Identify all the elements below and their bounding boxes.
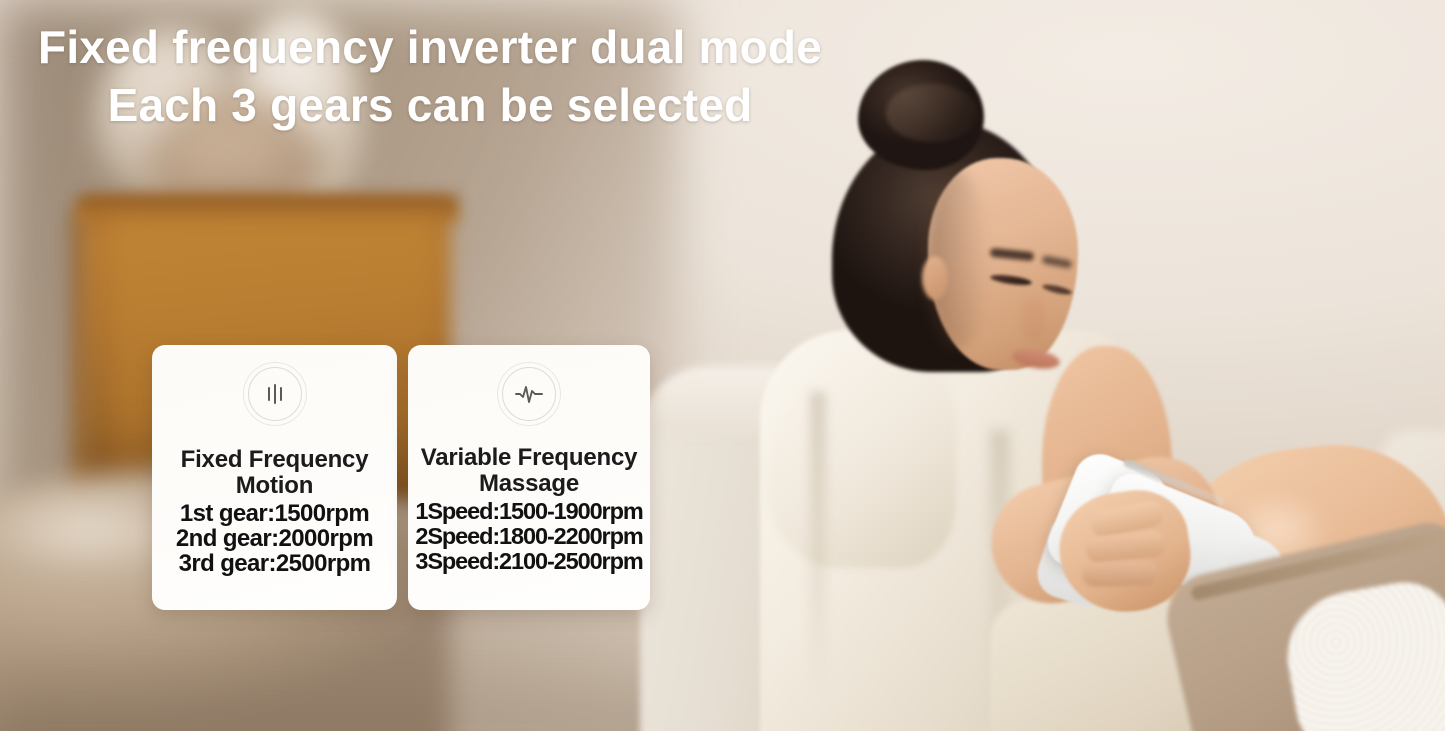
card-title-line-2: Motion (236, 472, 313, 499)
hair-bun-wrap (886, 84, 978, 142)
pulse-waveform-icon (502, 367, 556, 421)
card-title-line-2: Massage (479, 470, 579, 497)
nose (1020, 296, 1046, 340)
spec-line: 2Speed:1800-2200rpm (415, 524, 642, 549)
feature-card-group: Fixed Frequency Motion 1st gear:1500rpm … (152, 345, 650, 610)
finger-ring (1082, 561, 1159, 588)
card-title: Fixed Frequency Motion (181, 447, 369, 499)
headline-line-1: Fixed frequency inverter dual mode (0, 18, 860, 76)
ear (922, 256, 948, 300)
headline-line-2: Each 3 gears can be selected (0, 76, 860, 134)
floor-shadow (0, 640, 700, 731)
card-title: Variable Frequency Massage (421, 445, 638, 497)
product-feature-banner: Fixed frequency inverter dual mode Each … (0, 0, 1445, 731)
three-vertical-bars-icon (248, 367, 302, 421)
spec-line: 3Speed:2100-2500rpm (415, 549, 642, 574)
spec-line: 2nd gear:2000rpm (176, 526, 373, 551)
spec-line: 1st gear:1500rpm (176, 501, 373, 526)
spec-line: 1Speed:1500-1900rpm (415, 499, 642, 524)
page-title: Fixed frequency inverter dual mode Each … (0, 18, 860, 134)
feature-card-variable-frequency[interactable]: Variable Frequency Massage 1Speed:1500-1… (408, 345, 650, 610)
spec-list: 1Speed:1500-1900rpm 2Speed:1800-2200rpm … (415, 499, 642, 574)
card-title-line-1: Fixed Frequency (181, 446, 369, 473)
spec-line: 3rd gear:2500rpm (176, 551, 373, 576)
feature-card-fixed-frequency[interactable]: Fixed Frequency Motion 1st gear:1500rpm … (152, 345, 397, 610)
cabinet-top-surface (78, 196, 458, 222)
card-title-line-1: Variable Frequency (421, 444, 638, 471)
garment-fold-left (810, 392, 826, 692)
spec-list: 1st gear:1500rpm 2nd gear:2000rpm 3rd ge… (176, 501, 373, 576)
